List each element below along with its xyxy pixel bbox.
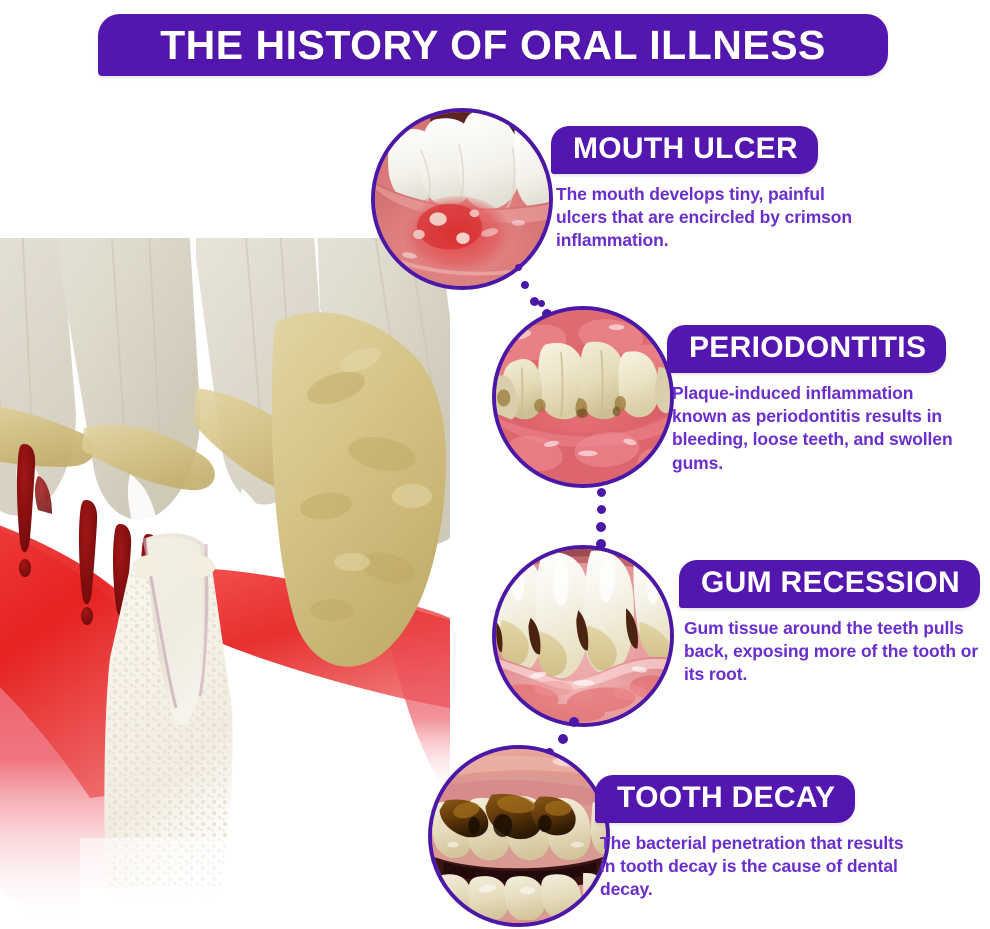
connector-dot: [597, 505, 606, 514]
label-tooth-decay: TOOTH DECAY: [595, 775, 855, 823]
section-mouth-ulcer: MOUTH ULCER The mouth develops tiny, pai…: [551, 126, 861, 253]
section-tooth-decay: TOOTH DECAY The bacterial penetration th…: [595, 775, 920, 902]
page-title-banner: THE HISTORY OF ORAL ILLNESS: [98, 14, 888, 76]
connector-dot: [569, 717, 579, 727]
photo-gum-recession: [492, 545, 674, 727]
body-mouth-ulcer: The mouth develops tiny, painful ulcers …: [556, 183, 861, 253]
connector-dot: [515, 264, 522, 271]
photo-periodontitis: [492, 306, 674, 488]
connector-dot: [597, 488, 606, 497]
connector-dot: [538, 300, 545, 307]
body-tooth-decay: The bacterial penetration that results i…: [600, 832, 920, 902]
connector-dot: [596, 522, 606, 532]
body-periodontitis: Plaque-induced inflammation known as per…: [672, 382, 962, 475]
label-mouth-ulcer: MOUTH ULCER: [551, 126, 818, 174]
section-periodontitis: PERIODONTITIS Plaque-induced inflammatio…: [667, 325, 962, 475]
photo-tooth-decay: [428, 745, 610, 927]
main-dental-illustration: [0, 238, 450, 929]
label-gum-recession: GUM RECESSION: [679, 560, 980, 608]
page-title: THE HISTORY OF ORAL ILLNESS: [160, 22, 826, 69]
label-periodontitis: PERIODONTITIS: [667, 325, 946, 373]
infographic-canvas: THE HISTORY OF ORAL ILLNESS: [0, 0, 990, 929]
section-gum-recession: GUM RECESSION Gum tissue around the teet…: [679, 560, 984, 687]
connector-dot: [521, 281, 529, 289]
connector-dot: [558, 734, 568, 744]
photo-mouth-ulcer: [371, 108, 553, 290]
body-gum-recession: Gum tissue around the teeth pulls back, …: [684, 617, 984, 687]
